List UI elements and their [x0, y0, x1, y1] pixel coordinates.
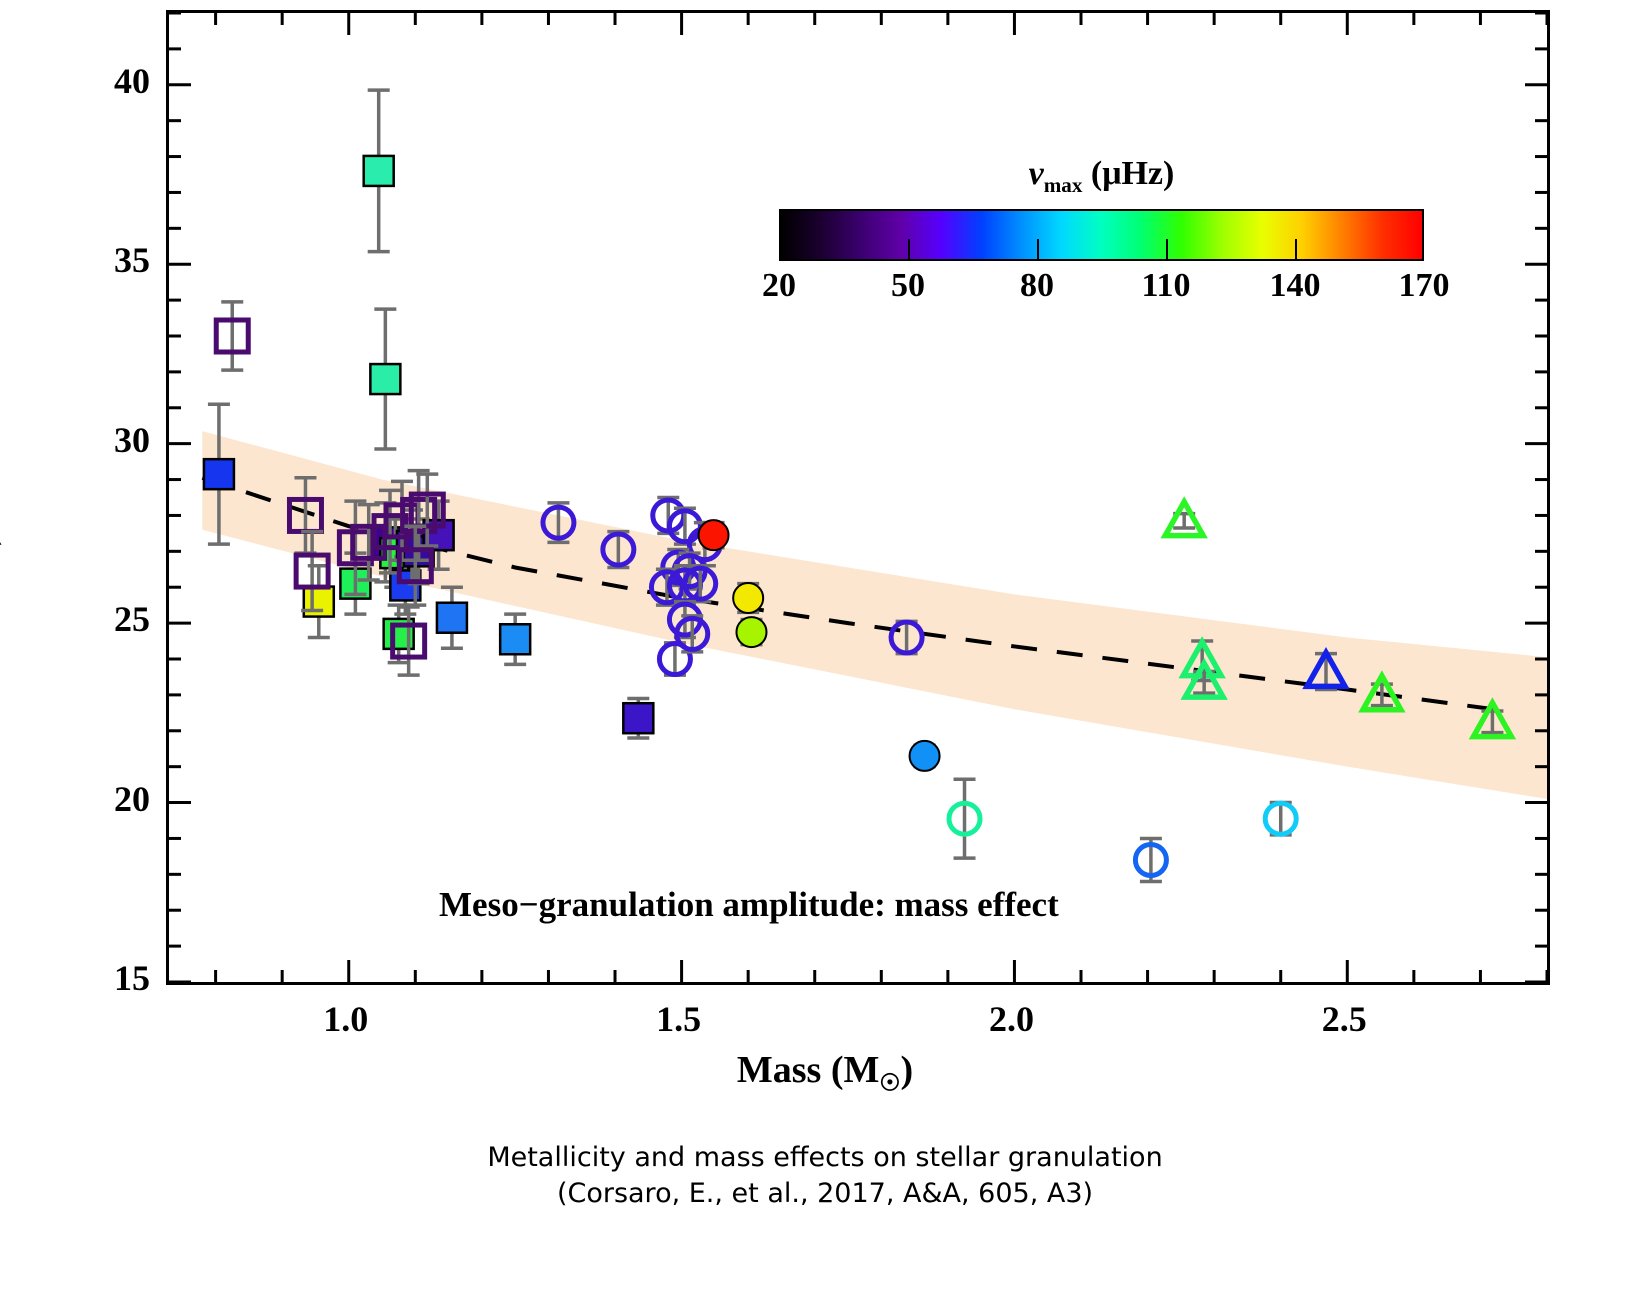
- marker-circle-filled: [736, 617, 766, 647]
- data-point: [437, 587, 467, 648]
- marker-circle-filled: [699, 520, 729, 550]
- x-tick-label: 1.0: [286, 1001, 406, 1037]
- marker-square-filled: [204, 459, 234, 489]
- colorbar-title-sub: max: [1044, 173, 1083, 197]
- data-point: [910, 741, 940, 771]
- figure-caption: Metallicity and mass effects on stellar …: [0, 1140, 1650, 1212]
- marker-square-filled: [500, 624, 530, 654]
- colorbar-tick-mark: [1037, 239, 1039, 261]
- data-point: [216, 302, 248, 370]
- y-tick-label: 30: [114, 422, 150, 458]
- y-tick-label: 20: [114, 781, 150, 817]
- colorbar: νmax (μHz) 205080110140170: [779, 209, 1424, 261]
- marker-square-filled: [364, 156, 394, 186]
- caption-line-2: (Corsaro, E., et al., 2017, A&A, 605, A3…: [0, 1176, 1650, 1212]
- data-point: [500, 614, 530, 664]
- marker-circle-filled: [733, 583, 763, 613]
- data-point: [1265, 803, 1296, 835]
- colorbar-title-unit: (μHz): [1091, 155, 1174, 192]
- data-point: [1165, 502, 1203, 536]
- colorbar-gradient: [779, 209, 1424, 261]
- colorbar-tick-mark: [1166, 239, 1168, 261]
- data-point: [733, 583, 763, 613]
- colorbar-tick-label: 170: [1399, 267, 1450, 305]
- y-tick-label: 40: [114, 63, 150, 99]
- colorbar-tick-mark: [908, 239, 910, 261]
- colorbar-tick-label: 20: [762, 267, 796, 305]
- marker-square-filled: [623, 703, 653, 733]
- plot-annotation: Meso−granulation amplitude: mass effect: [439, 885, 1059, 925]
- colorbar-title-nu: ν: [1029, 155, 1044, 192]
- colorbar-tick-label: 110: [1141, 267, 1190, 305]
- colorbar-tick-label: 80: [1020, 267, 1054, 305]
- colorbar-tick-label: 50: [891, 267, 925, 305]
- data-point: [699, 520, 729, 550]
- data-point: [669, 508, 700, 544]
- data-point: [949, 779, 980, 858]
- plot-frame: νmax (μHz) 205080110140170 Meso−granulat…: [166, 10, 1550, 985]
- caption-line-1: Metallicity and mass effects on stellar …: [0, 1140, 1650, 1176]
- y-tick-label: 35: [114, 242, 150, 278]
- x-tick-label: 2.5: [1284, 1001, 1404, 1037]
- y-axis-label: ameso (νmax/νmax,☉)−s exp−u[Fe/H] (ppm): [10, 10, 66, 985]
- series-4: [949, 779, 1296, 881]
- y-tick-label: 15: [114, 960, 150, 996]
- x-axis-label: Mass (M☉): [0, 1048, 1650, 1098]
- data-point: [364, 90, 394, 252]
- data-point: [736, 617, 766, 647]
- colorbar-tick-label: 140: [1270, 267, 1321, 305]
- figure-root: ameso (νmax/νmax,☉)−s exp−u[Fe/H] (ppm) …: [0, 0, 1650, 1297]
- series-0: [204, 90, 653, 738]
- y-tick-label: 25: [114, 601, 150, 637]
- x-tick-label: 2.0: [951, 1001, 1071, 1037]
- marker-square-filled: [370, 364, 400, 394]
- marker-square-filled: [437, 603, 467, 633]
- x-tick-label: 1.5: [619, 1001, 739, 1037]
- data-point: [370, 309, 400, 449]
- colorbar-title: νmax (μHz): [779, 155, 1424, 198]
- data-point: [623, 698, 653, 737]
- marker-circle-filled: [910, 741, 940, 771]
- colorbar-tick-mark: [1295, 239, 1297, 261]
- data-point: [1135, 838, 1166, 881]
